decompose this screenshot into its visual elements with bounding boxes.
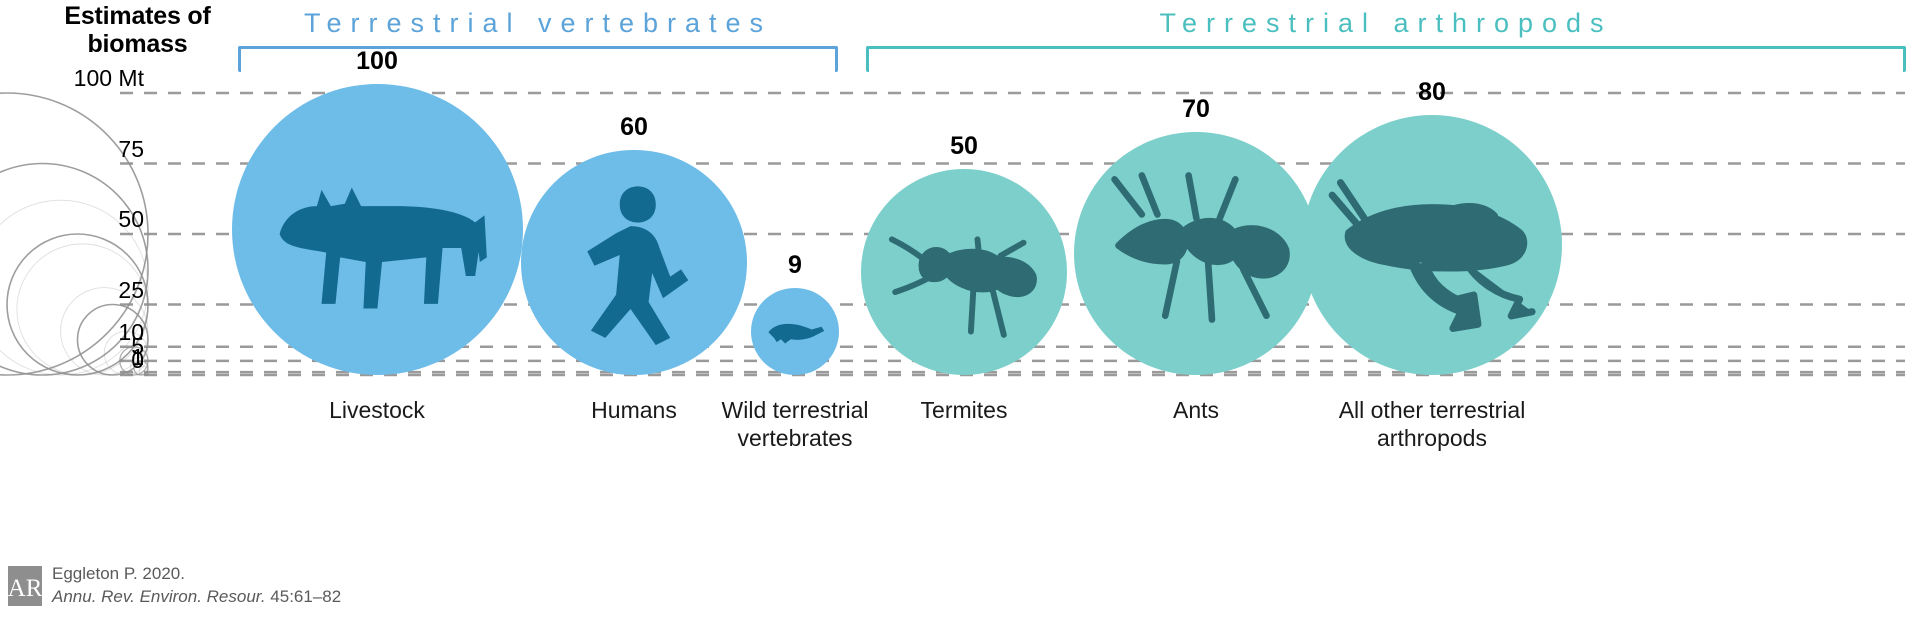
infographic-canvas: Estimates of biomass 100 Mt75502510510 T…	[0, 0, 1920, 642]
bubble-caption-line: All other terrestrial	[1282, 397, 1582, 425]
legend-title-line1: Estimates of	[30, 2, 245, 30]
legend-title: Estimates of biomass	[30, 2, 245, 58]
bubble-caption-line: vertebrates	[645, 425, 945, 453]
bubble-caption-line: Livestock	[227, 397, 527, 425]
bubble-value: 50	[950, 132, 978, 161]
bubble-caption: All other terrestrialarthropods	[1282, 397, 1582, 452]
annual-reviews-logo: AR	[8, 566, 42, 606]
scale-tick-label: 0	[0, 347, 148, 374]
grasshopper-icon	[1302, 115, 1562, 375]
footer: AR Eggleton P. 2020. Annu. Rev. Environ.…	[0, 560, 1920, 642]
scale-tick-label: 50	[0, 206, 148, 233]
scale-tick-label: 75	[0, 136, 148, 163]
bubble-caption-line: arthropods	[1282, 425, 1582, 453]
scale-tick-label: 100 Mt	[0, 65, 148, 92]
svg-text:AR: AR	[8, 575, 42, 602]
bubble-ant[interactable]	[1074, 132, 1317, 375]
bubble-grasshopper[interactable]	[1302, 115, 1562, 375]
group-header-arthropods: Terrestrial arthropods	[866, 8, 1906, 39]
bubble-termite[interactable]	[861, 169, 1067, 375]
bubble-value: 9	[788, 251, 802, 280]
group-bracket-arthropods	[866, 46, 1906, 72]
cow-icon	[232, 84, 523, 375]
bubble-lizard[interactable]	[751, 288, 838, 375]
group-header-vertebrates: Terrestrial vertebrates	[238, 8, 838, 39]
footer-citation: Annu. Rev. Environ. Resour. 45:61–82	[52, 587, 341, 607]
legend-title-line2: biomass	[30, 30, 245, 58]
bubble-value: 60	[620, 113, 648, 142]
bubble-cow[interactable]	[232, 84, 523, 375]
bubble-value: 80	[1418, 78, 1446, 107]
footer-journal: Annu. Rev. Environ. Resour.	[52, 587, 266, 606]
ant-icon	[1074, 132, 1317, 375]
bubble-value: 70	[1182, 95, 1210, 124]
footer-volume-pages: 45:61–82	[270, 587, 341, 606]
termite-icon	[861, 169, 1067, 375]
group-bracket-vertebrates	[238, 46, 838, 72]
bubble-caption: Livestock	[227, 397, 527, 425]
bubble-value: 100	[356, 47, 398, 76]
footer-author: Eggleton P. 2020.	[52, 564, 185, 584]
scale-tick-label: 25	[0, 277, 148, 304]
bubble-human[interactable]	[521, 150, 746, 375]
lizard-icon	[751, 288, 838, 375]
human-icon	[521, 150, 746, 375]
